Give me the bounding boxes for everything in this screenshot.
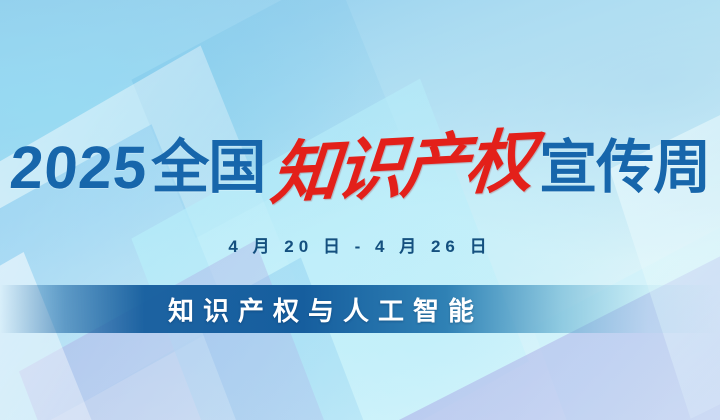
title-nationwide: 全国 <box>151 139 265 197</box>
banner-date-range: 4 月 20 日 - 4 月 26 日 <box>0 232 720 257</box>
banner-title: 2025 全国 知识产权 宣传周 <box>0 126 720 210</box>
title-year: 2025 <box>8 138 150 198</box>
subtitle-band: 知识产权与人工智能 <box>0 285 720 333</box>
ip-week-promo-banner: 2025 全国 知识产权 宣传周 4 月 20 日 - 4 月 26 日 知识产… <box>0 0 720 420</box>
title-promo-week: 宣传周 <box>539 139 710 197</box>
banner-subtitle: 知识产权与人工智能 <box>168 291 483 328</box>
title-highlight-ip: 知识产权 <box>268 127 534 209</box>
banner-content: 2025 全国 知识产权 宣传周 4 月 20 日 - 4 月 26 日 知识产… <box>0 0 720 420</box>
